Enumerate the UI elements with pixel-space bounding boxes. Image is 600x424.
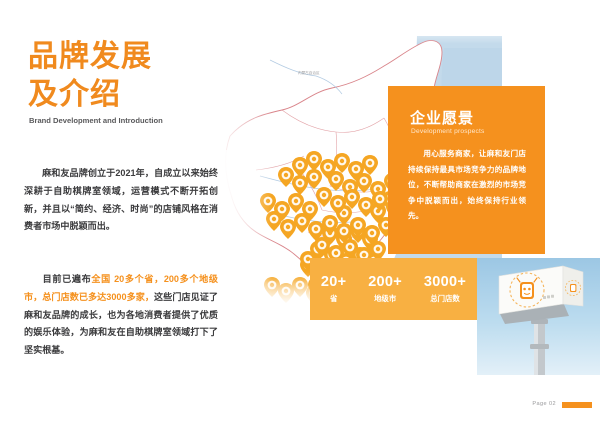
stat-stores-label: 总门店数 [424, 293, 466, 304]
stat-provinces-label: 省 [321, 293, 347, 304]
intro-paragraph-1-text: 麻和友品牌创立于2021年，自成立以来始终深耕于自助棋牌室领域，运营模式不断开拓… [24, 168, 218, 231]
stat-cities: 200+ 地级市 [368, 274, 402, 304]
map-region-label: 内蒙古自治区 [298, 70, 320, 75]
stat-provinces: 20+ 省 [321, 274, 347, 304]
intro-paragraph-2-pre: 目前已遍布 [42, 274, 91, 284]
page-title-line2: 及介绍 [28, 76, 218, 114]
stat-cities-number: 200+ [368, 274, 402, 291]
intro-paragraph-1: 麻和友品牌创立于2021年，自成立以来始终深耕于自助棋牌室领域，运营模式不断开拓… [24, 165, 218, 236]
billboard-graphic [477, 258, 600, 375]
footer-page-number: Page 02 [532, 401, 556, 407]
stat-stores: 3000+ 总门店数 [424, 274, 466, 304]
vision-card-body-text: 用心服务商家，让麻和友门店持续保持最具市场竞争力的品牌地位，不断帮助商家在激烈的… [408, 149, 526, 220]
stat-provinces-number: 20+ [321, 274, 347, 291]
stats-strip: 20+ 省 200+ 地级市 3000+ 总门店数 [310, 258, 477, 320]
stat-stores-number: 3000+ [424, 274, 466, 291]
intro-paragraph-2: 目前已遍布全国 20多个省，200多个地级市，总门店数已多达3000多家，这些门… [24, 271, 218, 360]
stat-cities-label: 地级市 [368, 293, 402, 304]
page-title-line1: 品牌发展 [28, 38, 218, 76]
slide-page: 内蒙古自治区 [0, 0, 600, 424]
billboard-photo [477, 258, 600, 375]
vision-card-body: 用心服务商家，让麻和友门店持续保持最具市场竞争力的品牌地位，不断帮助商家在激烈的… [408, 146, 526, 224]
vision-card: 企业愿景 Development prospects 用心服务商家，让麻和友门店… [388, 86, 545, 254]
vision-card-subtitle: Development prospects [411, 128, 484, 135]
page-title: 品牌发展 及介绍 [28, 38, 218, 115]
page-subtitle: Brand Development and Introduction [29, 115, 209, 126]
footer-accent-bar [562, 402, 592, 408]
vision-card-title: 企业愿景 [410, 107, 474, 128]
